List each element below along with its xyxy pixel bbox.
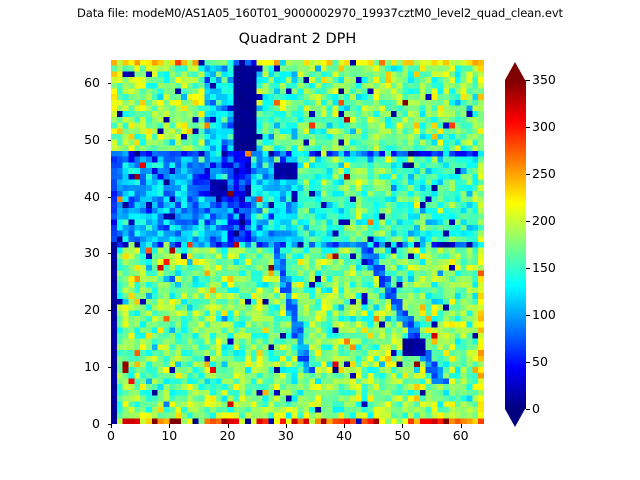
x-tick-mark	[228, 424, 229, 428]
colorbar-tick-label: 300	[532, 120, 556, 134]
colorbar-tick-label: 350	[532, 73, 556, 87]
colorbar-tick-label: 200	[532, 214, 556, 228]
y-tick-mark	[108, 83, 112, 84]
colorbar-extend-bottom-icon	[505, 409, 525, 427]
y-tick-label: 40	[60, 190, 100, 204]
colorbar-tick-label: 100	[532, 308, 556, 322]
page-title: Quadrant 2 DPH	[111, 30, 484, 48]
x-tick-label: 10	[149, 429, 189, 443]
colorbar-tick-mark	[526, 221, 530, 222]
y-tick-mark	[108, 310, 112, 311]
colorbar-tick-mark	[526, 315, 530, 316]
colorbar-tick-label: 150	[532, 261, 556, 275]
colorbar-tick-mark	[526, 409, 530, 410]
colorbar-gradient	[505, 80, 526, 409]
colorbar-tick-mark	[526, 80, 530, 81]
x-tick-label: 30	[266, 429, 306, 443]
colorbar-tick-label: 250	[532, 167, 556, 181]
x-tick-label: 60	[441, 429, 481, 443]
colorbar[interactable]	[505, 62, 526, 427]
x-tick-mark	[344, 424, 345, 428]
y-tick-label: 50	[60, 133, 100, 147]
colorbar-tick-mark	[526, 268, 530, 269]
y-tick-mark	[108, 424, 112, 425]
x-tick-mark	[169, 424, 170, 428]
heatmap-axes[interactable]	[111, 60, 484, 424]
x-tick-mark	[461, 424, 462, 428]
data-file-label: Data file: modeM0/AS1A05_160T01_90000029…	[0, 6, 640, 20]
y-tick-label: 30	[60, 246, 100, 260]
figure-canvas: Data file: modeM0/AS1A05_160T01_90000029…	[0, 0, 640, 480]
colorbar-body	[505, 80, 526, 409]
y-tick-label: 10	[60, 360, 100, 374]
x-tick-label: 0	[91, 429, 131, 443]
colorbar-tick-label: 0	[532, 402, 540, 416]
y-tick-label: 60	[60, 76, 100, 90]
y-tick-mark	[108, 367, 112, 368]
colorbar-tick-label: 50	[532, 355, 548, 369]
x-tick-label: 50	[382, 429, 422, 443]
colorbar-tick-mark	[526, 362, 530, 363]
y-tick-mark	[108, 140, 112, 141]
colorbar-tick-mark	[526, 174, 530, 175]
colorbar-tick-mark	[526, 127, 530, 128]
y-tick-mark	[108, 253, 112, 254]
y-tick-label: 20	[60, 303, 100, 317]
x-tick-mark	[402, 424, 403, 428]
x-tick-label: 20	[208, 429, 248, 443]
colorbar-extend-top-icon	[505, 62, 525, 80]
y-tick-label: 0	[60, 417, 100, 431]
heatmap-image	[111, 60, 484, 424]
x-tick-mark	[286, 424, 287, 428]
y-tick-mark	[108, 197, 112, 198]
x-tick-mark	[111, 424, 112, 428]
x-tick-label: 40	[324, 429, 364, 443]
